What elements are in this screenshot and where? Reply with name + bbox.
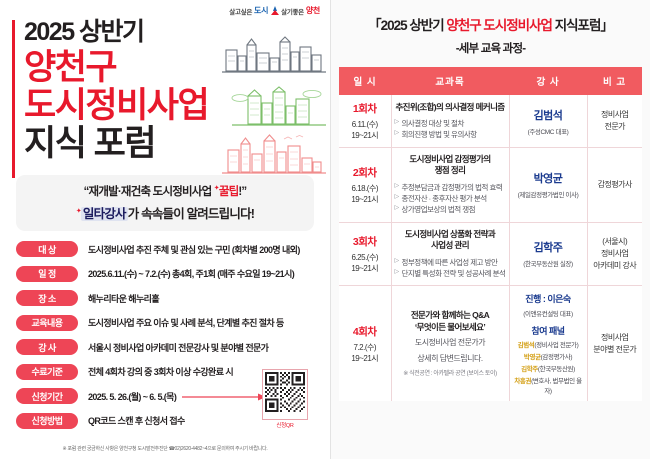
panelist-name: 박영균 <box>524 354 541 361</box>
title-open-bracket: 「 <box>368 18 381 33</box>
subject-bullet: 종전자산 · 종후자산 평가 분석 <box>395 193 506 204</box>
subject-bullets: 의사결정 대상 및 절차 회의진행 방법 및 유의사항 <box>395 118 506 141</box>
gov-logo-pre: 살고싶은 <box>229 6 252 16</box>
table-row: 3회차 6.25.(수) 19~21시 도시정비사업 상품화 전략과 사업성 관… <box>339 222 642 285</box>
cell-subject: 도시정비사업 감정평가의 쟁점 정리 추정분담금과 감정평가의 법적 효력 종전… <box>391 148 509 223</box>
slogan-line-1-b: !” <box>238 186 246 198</box>
info-row-label: 교육내용 <box>16 315 78 331</box>
session-date: 6.25.(수) <box>342 252 388 263</box>
qr-code-icon[interactable] <box>265 372 305 412</box>
host-affiliation: (이앤유컨설팅 대표) <box>513 308 584 318</box>
subject-footnote: ※ 식전공연 : 아카펠라 공연 (보이스 토이) <box>395 368 506 377</box>
session-date: 6.11.(수) <box>342 119 388 130</box>
slogan-line-1-a: “재개발·재건축 도시정비사업 <box>84 186 214 198</box>
schedule-subtitle: -세부 교육 과정- <box>339 40 642 56</box>
session-time: 19~21시 <box>342 194 388 205</box>
city-skyline-green-icon <box>226 86 326 130</box>
remarks-line: (서울시) <box>591 236 640 248</box>
title-part-1: 2025 상반기 <box>381 18 447 33</box>
right-panel: 「2025 상반기 양천구 도시정비사업 지식포럼」 -세부 교육 과정- 일 … <box>330 0 650 459</box>
info-row: 장 소 해누리타운 해누리홀 <box>16 290 316 306</box>
remarks-line: 정비사업 <box>591 109 640 121</box>
slogan-line-1-highlight: 꿀팁 <box>219 186 239 198</box>
subject-title-line-2: 사업성 관리 <box>395 240 506 251</box>
info-row-value: QR코드 스캔 후 신청서 접수 <box>88 414 185 427</box>
info-row: 교육내용 도시정비사업 주요 이슈 및 사례 분석, 단계별 추진 절차 등 <box>16 315 316 331</box>
schedule-table-body: 1회차 6.11.(수) 19~21시 추진위(조합)의 의사결정 메커니즘 의… <box>339 95 642 401</box>
cell-remarks: (서울시) 정비사업 아카데미 강사 <box>587 222 642 285</box>
title-close-bracket: 」 <box>600 18 613 33</box>
instructor-name: 김학주 <box>513 239 584 255</box>
slogan-line-2: ✦일타강사가 속속들이 알려드립니다! <box>22 203 308 222</box>
slogan-line-2-rest: 가 속속들이 알려드립니다! <box>128 207 254 221</box>
qr-code-frame[interactable] <box>262 369 308 420</box>
cell-remarks: 감정평가사 <box>587 148 642 223</box>
info-row: 일 정 2025.6.11.(수) ~ 7.2.(수) 총4회, 주1회 (매주… <box>16 266 316 282</box>
yangcheon-gov-logo: 살고싶은 도시 살기좋은 양천 <box>229 5 320 16</box>
instructor-affiliation: (주성CMC 대표) <box>513 126 584 136</box>
subject-title-line-2: ‘무엇이든 물어보세요’ <box>395 322 506 333</box>
panelist: 차흥권(변호사, 법무법인 율자) <box>513 375 584 395</box>
session-date: 7.2.(수) <box>342 342 388 353</box>
remarks-line: 분야별 전문가 <box>591 344 640 356</box>
info-row-value: 도시정비사업 추진 주체 및 관심 있는 구민 (회차별 200명 내외) <box>88 243 300 256</box>
info-row: 대 상 도시정비사업 추진 주체 및 관심 있는 구민 (회차별 200명 내외… <box>16 241 316 257</box>
remarks-line: 정비사업 <box>591 332 640 344</box>
info-row-value: 2025. 5. 26.(월) ~ 6. 5.(목) <box>88 390 176 403</box>
info-row-value: 서울시 정비사업 아카데미 전문강사 및 분야별 전문가 <box>88 341 268 354</box>
cell-subject: 추진위(조합)의 의사결정 메커니즘 의사결정 대상 및 절차 회의진행 방법 … <box>391 95 509 148</box>
slogan-line-1: “재개발·재건축 도시정비사업 ✦꿀팁!” <box>22 183 308 199</box>
slogan-box: “재개발·재건축 도시정비사업 ✦꿀팁!” ✦일타강사가 속속들이 알려드립니다… <box>16 175 314 231</box>
subject-bullet: 정부정책에 따른 사업성 제고 방안 <box>395 257 506 268</box>
info-row-value: 전체 4회차 강의 중 3회차 이상 수강완료 시 <box>88 365 233 378</box>
cell-instructor: 김학주 (한국부동산원 실장) <box>509 222 587 285</box>
info-row-value: 2025.6.11.(수) ~ 7.2.(수) 총4회, 주1회 (매주 수요일… <box>88 267 294 280</box>
session-time: 19~21시 <box>342 130 388 141</box>
info-row-label: 신청방법 <box>16 413 78 429</box>
host-label: 진행 : 이은숙 <box>513 292 584 305</box>
subject-bullet: 회의진행 방법 및 유의사항 <box>395 129 506 140</box>
subject-bullet: 추정분담금과 감정평가의 법적 효력 <box>395 182 506 193</box>
session-time: 19~21시 <box>342 353 388 364</box>
subject-bullets: 정부정책에 따른 사업성 제고 방안 단지별 특성화 전략 및 성공사례 분석 <box>395 257 506 280</box>
session-ordinal: 2회차 <box>342 165 388 180</box>
arrow-right-icon <box>182 393 268 401</box>
cell-date: 1회차 6.11.(수) 19~21시 <box>339 95 391 148</box>
panelist-affiliation: (정비사업 전문가) <box>534 342 578 349</box>
city-skyline-gray-icon <box>222 36 326 76</box>
table-row: 2회차 6.18.(수) 19~21시 도시정비사업 감정평가의 쟁점 정리 추… <box>339 148 642 223</box>
cell-date: 2회차 6.18.(수) 19~21시 <box>339 148 391 223</box>
cell-date: 3회차 6.25.(수) 19~21시 <box>339 222 391 285</box>
panelist: 김범석(정비사업 전문가) <box>513 339 584 349</box>
cell-instructor: 김범석 (주성CMC 대표) <box>509 95 587 148</box>
footnote-text: ※ 포럼 관련 궁금하신 사항은 양천구청 도시발전추진단 ☎02)2620-4… <box>0 445 330 452</box>
subject-bullets: 추정분담금과 감정평가의 법적 효력 종전자산 · 종후자산 평가 분석 상가영… <box>395 182 506 216</box>
left-panel: 살고싶은 도시 살기좋은 양천 2025 상반기 양천구 도시정비사업 지식 포… <box>0 0 330 459</box>
panelist-affiliation: (감정평가사) <box>541 354 572 361</box>
instructor-affiliation: (제일감정평가법인 이사) <box>513 189 584 199</box>
poster-page: 살고싶은 도시 살기좋은 양천 2025 상반기 양천구 도시정비사업 지식 포… <box>0 0 650 459</box>
gov-logo-city: 도시 <box>254 5 268 16</box>
session-ordinal: 1회차 <box>342 101 388 116</box>
slogan-line-2-mark: 일타강사 <box>81 207 128 221</box>
info-row-label: 신청기간 <box>16 388 78 404</box>
info-row: 강 사 서울시 정비사업 아카데미 전문강사 및 분야별 전문가 <box>16 339 316 355</box>
cell-instructor: 박영균 (제일감정평가법인 이사) <box>509 148 587 223</box>
info-row-label: 대 상 <box>16 241 78 257</box>
schedule-table: 일 시 교과목 강 사 비 고 1회차 6.11.(수) 19~21시 추진위(… <box>339 67 642 401</box>
cell-subject: 전문가와 함께하는 Q&A ‘무엇이든 물어보세요’ 도시정비사업 전문가가 상… <box>391 286 509 402</box>
remarks-line: 아카데미 강사 <box>591 260 640 272</box>
cell-remarks: 정비사업 전문가 <box>587 95 642 148</box>
info-row-label: 강 사 <box>16 339 78 355</box>
cell-subject: 도시정비사업 상품화 전략과 사업성 관리 정부정책에 따른 사업성 제고 방안… <box>391 222 509 285</box>
headline-accent-bar <box>12 20 15 178</box>
column-header-subject: 교과목 <box>391 67 509 95</box>
gov-logo-district: 양천 <box>306 5 320 16</box>
info-row-label: 장 소 <box>16 290 78 306</box>
remarks-line: 전문가 <box>591 121 640 133</box>
instructor-name: 박영균 <box>513 170 584 186</box>
info-row-label: 일 정 <box>16 266 78 282</box>
title-part-red: 양천구 도시정비사업 <box>446 18 552 33</box>
column-header-instructor: 강 사 <box>509 67 587 95</box>
session-ordinal: 4회차 <box>342 324 388 339</box>
qr-code-label: 신청QR <box>262 421 308 429</box>
table-row: 4회차 7.2.(수) 19~21시 전문가와 함께하는 Q&A ‘무엇이든 물… <box>339 286 642 402</box>
panelist: 김학주(한국부동산원) <box>513 363 584 373</box>
info-row-value: 해누리타운 해누리홀 <box>88 292 159 305</box>
remarks-line: 정비사업 <box>591 248 640 260</box>
subject-desc-line-2: 상세히 답변드립니다. <box>395 353 506 365</box>
cell-instructor: 진행 : 이은숙 (이앤유컨설팅 대표) 참여 패널 김범석(정비사업 전문가)… <box>509 286 587 402</box>
panelist-name: 김학주 <box>521 366 538 373</box>
column-header-date: 일 시 <box>339 67 391 95</box>
instructor-name: 김범석 <box>513 107 584 123</box>
schedule-table-head: 일 시 교과목 강 사 비 고 <box>339 67 642 95</box>
subject-title-line-2: 쟁점 정리 <box>395 165 506 176</box>
application-qr-block[interactable]: 신청QR <box>262 369 308 429</box>
remarks-line: 감정평가사 <box>591 179 640 191</box>
session-date: 6.18.(수) <box>342 183 388 194</box>
panelist-affiliation: (한국부동산원) <box>538 366 575 373</box>
panelist-name: 차흥권 <box>514 378 531 385</box>
subject-bullet: 의사결정 대상 및 절차 <box>395 118 506 129</box>
instructor-affiliation: (한국부동산원 실장) <box>513 258 584 268</box>
table-header-row: 일 시 교과목 강 사 비 고 <box>339 67 642 95</box>
session-ordinal: 3회차 <box>342 234 388 249</box>
cell-date: 4회차 7.2.(수) 19~21시 <box>339 286 391 402</box>
session-time: 19~21시 <box>342 263 388 274</box>
subject-title-line-1: 도시정비사업 감정평가의 <box>395 154 506 165</box>
panelist-affiliation: (변호사, 법무법인 율자) <box>531 378 582 395</box>
subject-title-line-1: 도시정비사업 상품화 전략과 <box>395 229 506 240</box>
info-row-label: 수료기준 <box>16 364 78 380</box>
subject-title: 추진위(조합)의 의사결정 메커니즘 <box>395 102 506 113</box>
subject-desc-line-1: 도시정비사업 전문가가 <box>395 337 506 349</box>
panel-label: 참여 패널 <box>513 324 584 337</box>
cell-remarks: 정비사업 분야별 전문가 <box>587 286 642 402</box>
panelist: 박영균(감정평가사) <box>513 351 584 361</box>
table-row: 1회차 6.11.(수) 19~21시 추진위(조합)의 의사결정 메커니즘 의… <box>339 95 642 148</box>
info-row-value: 도시정비사업 주요 이슈 및 사례 분석, 단계별 추진 절차 등 <box>88 316 284 329</box>
subject-bullet: 단지별 특성화 전략 및 성공사례 분석 <box>395 268 506 279</box>
column-header-remarks: 비 고 <box>587 67 642 95</box>
subject-bullet: 상가영업보상의 법적 쟁점 <box>395 204 506 215</box>
subject-title-line-1: 전문가와 함께하는 Q&A <box>395 310 506 321</box>
yangcheon-gov-mark-icon <box>270 6 279 16</box>
city-skyline-red-icon <box>222 134 326 178</box>
schedule-title: 「2025 상반기 양천구 도시정비사업 지식포럼」 <box>339 14 642 34</box>
panelist-name: 김범석 <box>518 342 535 349</box>
gov-logo-mid: 살기좋은 <box>281 6 304 16</box>
title-part-2: 지식포럼 <box>552 18 600 33</box>
